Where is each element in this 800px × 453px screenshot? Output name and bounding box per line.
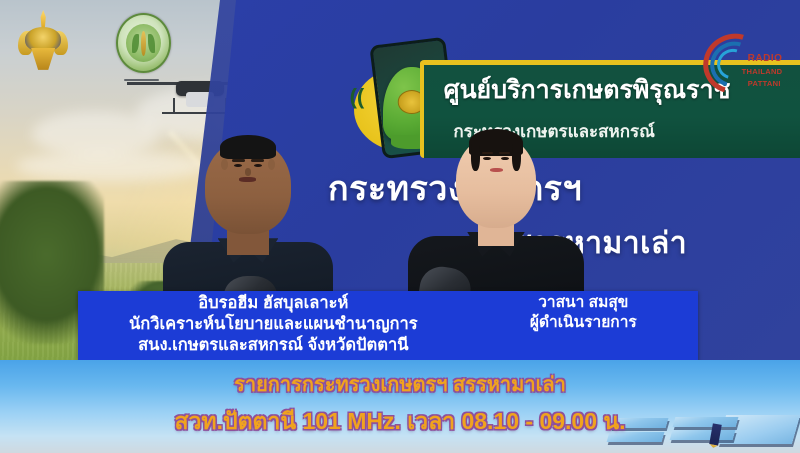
ticker-line-1: รายการกระทรวงเกษตรฯ สรรหามาเล่า — [0, 368, 800, 400]
guest-position: นักวิเคราะห์นโยบายและแผนชำนาญการ — [78, 314, 469, 335]
program-banner-title: ศูนย์บริการเกษตรพิรุณราช — [444, 70, 731, 110]
ticker-band: รายการกระทรวงเกษตรฯ สรรหามาเล่า สวท.ปัตต… — [0, 360, 800, 453]
host-role: ผู้ดำเนินรายการ — [469, 313, 698, 333]
moac-seal-icon — [116, 13, 171, 73]
lower-third-name-band: อิบรอฮีม ฮัสบุลเลาะห์ นักวิเคราะห์นโยบาย… — [78, 291, 698, 361]
host-credit-block: วาสนา สมสุข ผู้ดำเนินรายการ — [469, 293, 698, 333]
guest-name: อิบรอฮีม ฮัสบุลเลาะห์ — [78, 293, 469, 314]
broadcast-frame: กระทรวงเกษตรฯ สรรหามาเล่า (( )) ศูนย์บริ… — [0, 0, 800, 453]
signal-wave-left-icon: (( — [350, 86, 365, 108]
logo-text-radio: RADIO — [748, 53, 783, 64]
radio-thailand-pattani-logo: RADIO THAILAND PATTANI — [698, 32, 782, 95]
logo-text-pattani: PATTANI — [748, 79, 781, 88]
ticker-line-2: สวท.ปัตตานี 101 MHz. เวลา 08.10 - 09.00 … — [0, 404, 800, 440]
guest-credit-block: อิบรอฮีม ฮัสบุลเลาะห์ นักวิเคราะห์นโยบาย… — [78, 293, 469, 356]
logo-text-thailand: THAILAND — [742, 67, 783, 76]
royal-thai-emblem-icon — [18, 10, 68, 71]
host-name: วาสนา สมสุข — [469, 293, 698, 313]
guest-organization: สนง.เกษตรและสหกรณ์ จังหวัดปัตตานี — [78, 335, 469, 356]
